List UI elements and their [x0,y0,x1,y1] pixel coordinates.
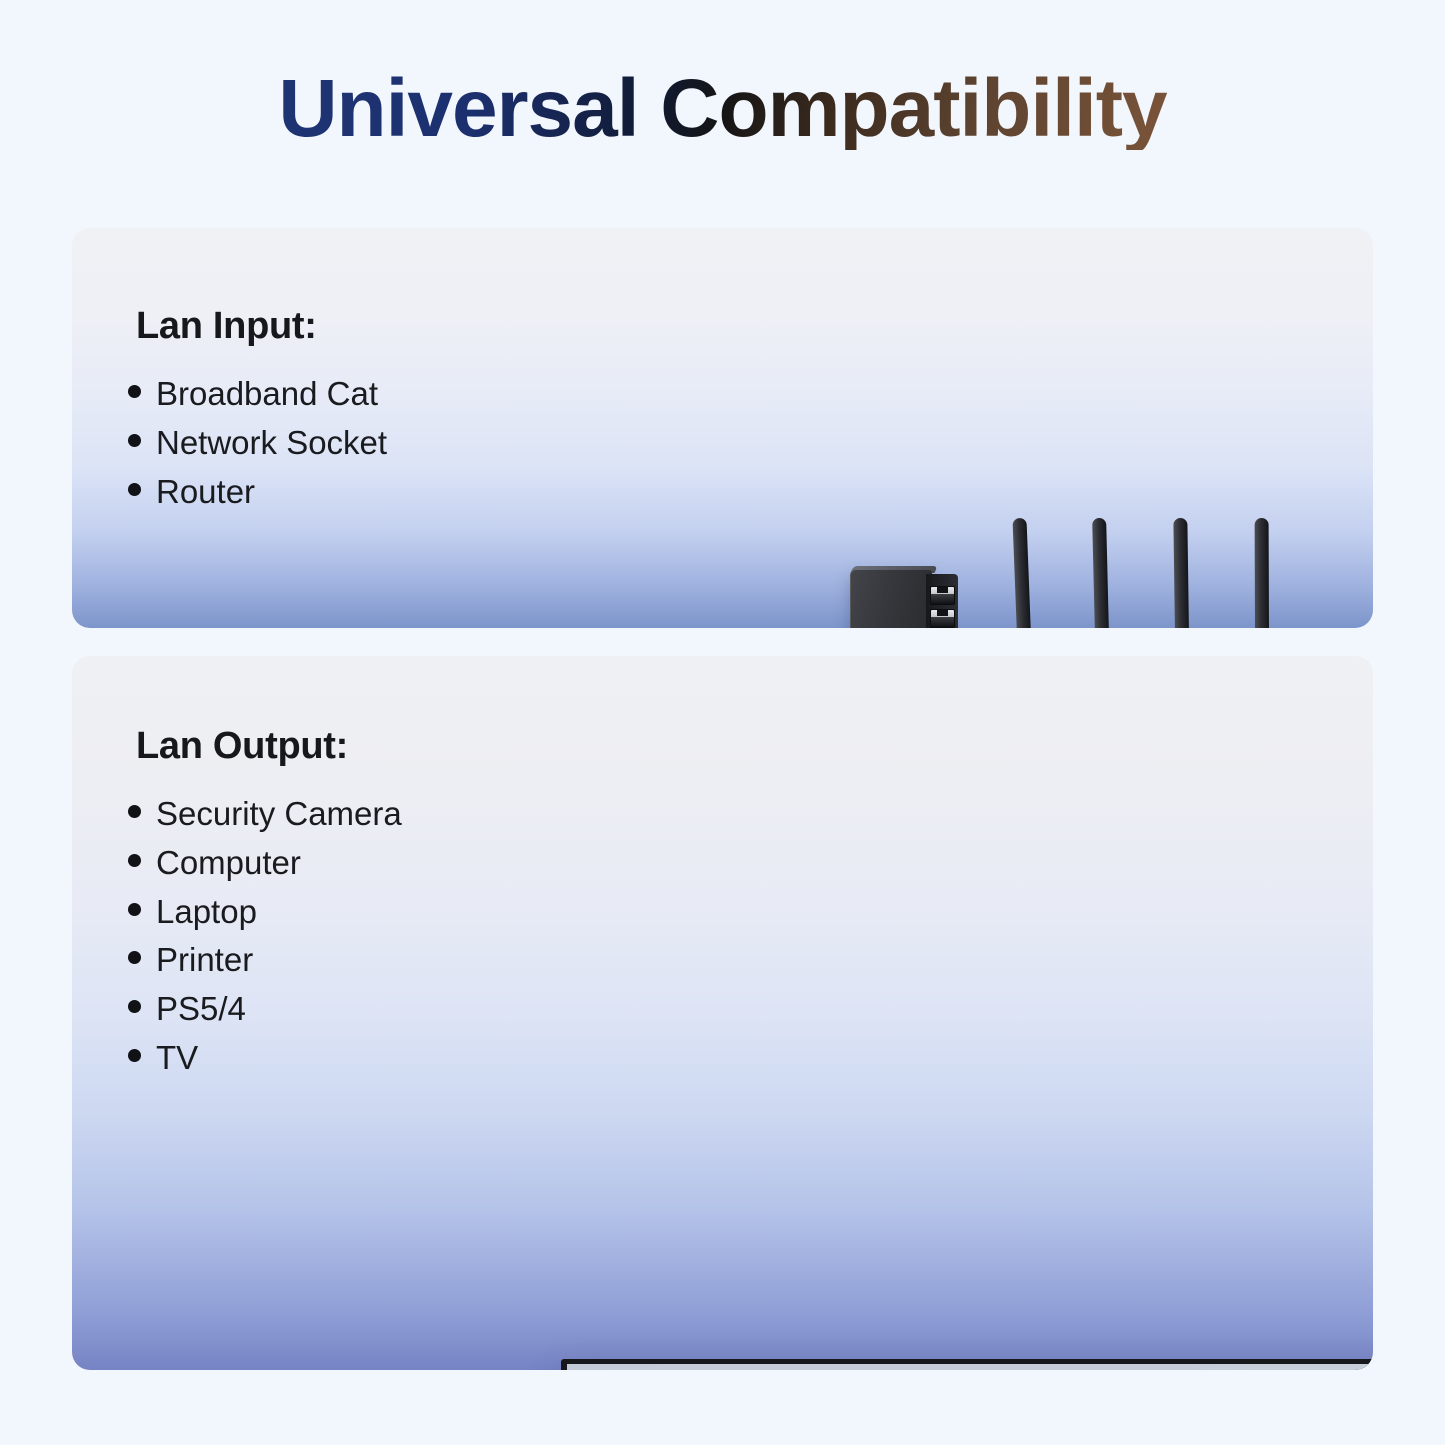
list-item-label: PS5/4 [156,985,246,1034]
bullet-icon [128,1049,141,1062]
bullet-icon [128,434,141,447]
list-item-label: Printer [156,936,253,985]
lan-input-heading: Lan Input: [136,305,387,348]
bullet-icon [128,385,141,398]
router-antenna [1092,518,1112,628]
list-item: Router [128,468,387,517]
tv-screen-wallpaper [567,1364,1373,1370]
lan-input-list: Broadband Cat Network Socket Router [136,370,387,516]
list-item: Laptop [128,888,402,937]
list-item: TV [128,1034,402,1083]
lan-output-heading: Lan Output: [136,725,402,768]
router-antenna [1173,518,1190,628]
page-title: Universal Compatibility [278,68,1166,150]
lan-output-text-block: Lan Output: Security Camera Computer Lap… [136,725,402,1083]
switch-rj45-port [930,609,955,628]
lan-output-list: Security Camera Computer Laptop Printer … [136,790,402,1083]
list-item-label: Network Socket [156,419,387,468]
list-item: Network Socket [128,419,387,468]
page-header: Universal Compatibility [0,68,1445,150]
list-item: Broadband Cat [128,370,387,419]
switch-body: UGREEN [850,570,932,628]
list-item-label: Laptop [156,888,257,937]
bullet-icon [128,951,141,964]
list-item-label: Router [156,468,255,517]
flat-screen-tv [561,1359,1373,1370]
list-item: Printer [128,936,402,985]
list-item: PS5/4 [128,985,402,1034]
list-item: Computer [128,839,402,888]
list-item-label: Broadband Cat [156,370,378,419]
list-item-label: Computer [156,839,301,888]
lan-input-text-block: Lan Input: Broadband Cat Network Socket … [136,305,387,516]
wifi-router [997,510,1373,628]
bullet-icon [128,1000,141,1013]
bullet-icon [128,483,141,496]
router-antenna [1255,518,1270,628]
router-antenna [1012,518,1035,628]
bullet-icon [128,854,141,867]
switch-rj45-port [930,586,955,605]
bullet-icon [128,903,141,916]
bullet-icon [128,805,141,818]
ugreen-ethernet-switch: UGREEN [850,566,958,628]
list-item: Security Camera [128,790,402,839]
list-item-label: Security Camera [156,790,402,839]
list-item-label: TV [156,1034,198,1083]
switch-port-bank [926,574,958,628]
